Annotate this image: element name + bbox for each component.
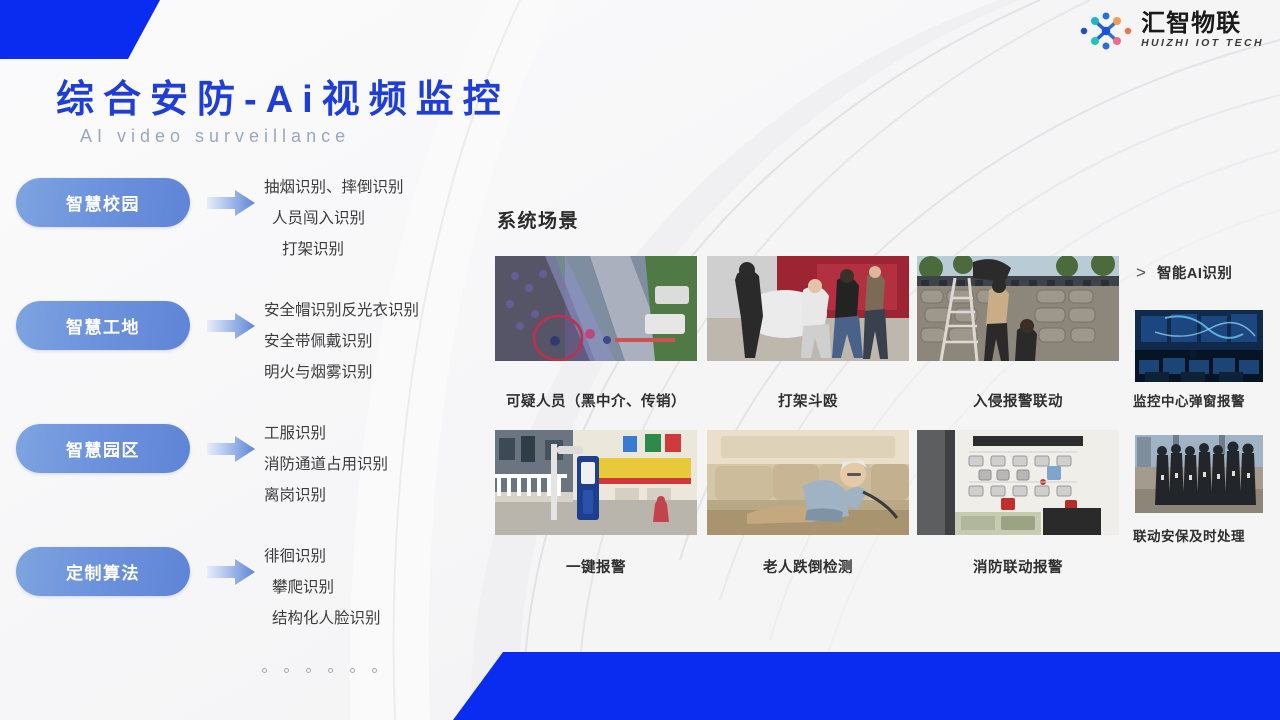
category-item: 徘徊识别 [264, 541, 381, 572]
scene-caption: 入侵报警联动 [917, 390, 1119, 411]
scene-thumbnail-wall-intrusion[interactable] [917, 256, 1119, 361]
category-item: 人员闯入识别 [264, 203, 404, 234]
scene-caption: 打架斗殴 [707, 390, 909, 411]
section-heading-scenes: 系统场景 [497, 206, 579, 233]
category-row: 智慧园区 工服识别 消防通道占用识别 离岗识别 [0, 424, 480, 547]
category-item: 工服识别 [264, 418, 388, 449]
slide-canvas: 综合安防-Ai视频监控 AI video surveillance 汇智物联 H… [0, 0, 1280, 720]
scene-thumbnail-street-crowd[interactable] [495, 256, 697, 361]
scene-caption: 联动安保及时处理 [1133, 525, 1273, 545]
arrow-right-icon [207, 189, 255, 217]
category-pill-smart-campus[interactable]: 智慧校园 [16, 178, 190, 227]
scene-caption: 消防联动报警 [917, 556, 1119, 577]
category-items: 安全帽识别反光衣识别 安全带佩戴识别 明火与烟雾识别 [264, 295, 419, 388]
scene-thumbnail-elderly-fall[interactable] [707, 430, 909, 535]
category-item: 抽烟识别、摔倒识别 [264, 172, 404, 203]
ai-recognition-label: 智能AI识别 [1157, 262, 1233, 283]
logo-name-cn: 汇智物联 [1141, 11, 1241, 36]
category-pill-smart-park[interactable]: 智慧园区 [16, 424, 190, 473]
arrow-right-icon [207, 312, 255, 340]
category-items: 工服识别 消防通道占用识别 离岗识别 [264, 418, 388, 511]
category-item: 结构化人脸识别 [264, 603, 381, 634]
scene-caption: 可疑人员（黑中介、传销） [495, 390, 697, 411]
brand-logo: 汇智物联 HUIZHI IOT TECH [1080, 10, 1264, 52]
scene-thumbnail-control-room[interactable] [1135, 310, 1263, 382]
category-item: 安全带佩戴识别 [264, 326, 419, 357]
category-row: 智慧工地 安全帽识别反光衣识别 安全带佩戴识别 明火与烟雾识别 [0, 301, 480, 424]
category-item: 离岗识别 [264, 480, 388, 511]
ellipsis-dots [262, 668, 377, 673]
category-item: 打架识别 [264, 234, 404, 265]
category-item: 明火与烟雾识别 [264, 357, 419, 388]
logo-name-en: HUIZHI IOT TECH [1141, 36, 1264, 52]
scene-caption: 一键报警 [495, 556, 697, 577]
scene-thumbnail-security-guards[interactable] [1135, 435, 1263, 513]
scene-caption: 监控中心弹窗报警 [1133, 390, 1273, 410]
category-item: 安全帽识别反光衣识别 [264, 295, 419, 326]
category-list: 智慧校园 抽烟识别、摔倒识别 人员闯入识别 打架识别 智慧工地 [0, 178, 480, 670]
scene-thumbnail-emergency-call[interactable] [495, 430, 697, 535]
category-pill-custom-algorithm[interactable]: 定制算法 [16, 547, 190, 596]
arrow-right-icon [207, 435, 255, 463]
category-pill-smart-site[interactable]: 智慧工地 [16, 301, 190, 350]
network-nodes-icon [1080, 10, 1132, 52]
category-items: 徘徊识别 攀爬识别 结构化人脸识别 [264, 541, 381, 634]
category-item: 攀爬识别 [264, 572, 381, 603]
category-item: 消防通道占用识别 [264, 449, 388, 480]
category-row: 定制算法 徘徊识别 攀爬识别 结构化人脸识别 [0, 547, 480, 670]
scene-thumbnail-street-fight[interactable] [707, 256, 909, 361]
category-items: 抽烟识别、摔倒识别 人员闯入识别 打架识别 [264, 172, 404, 265]
page-subtitle: AI video surveillance [80, 126, 350, 147]
ai-recognition-tag[interactable]: > 智能AI识别 [1136, 262, 1232, 283]
arrow-right-icon [207, 558, 255, 586]
scene-caption: 老人跌倒检测 [707, 556, 909, 577]
scene-thumbnail-fire-control-panel[interactable] [917, 430, 1119, 535]
page-title: 综合安防-Ai视频监控 [56, 68, 510, 123]
category-row: 智慧校园 抽烟识别、摔倒识别 人员闯入识别 打架识别 [0, 178, 480, 301]
chevron-right-icon: > [1136, 264, 1146, 281]
